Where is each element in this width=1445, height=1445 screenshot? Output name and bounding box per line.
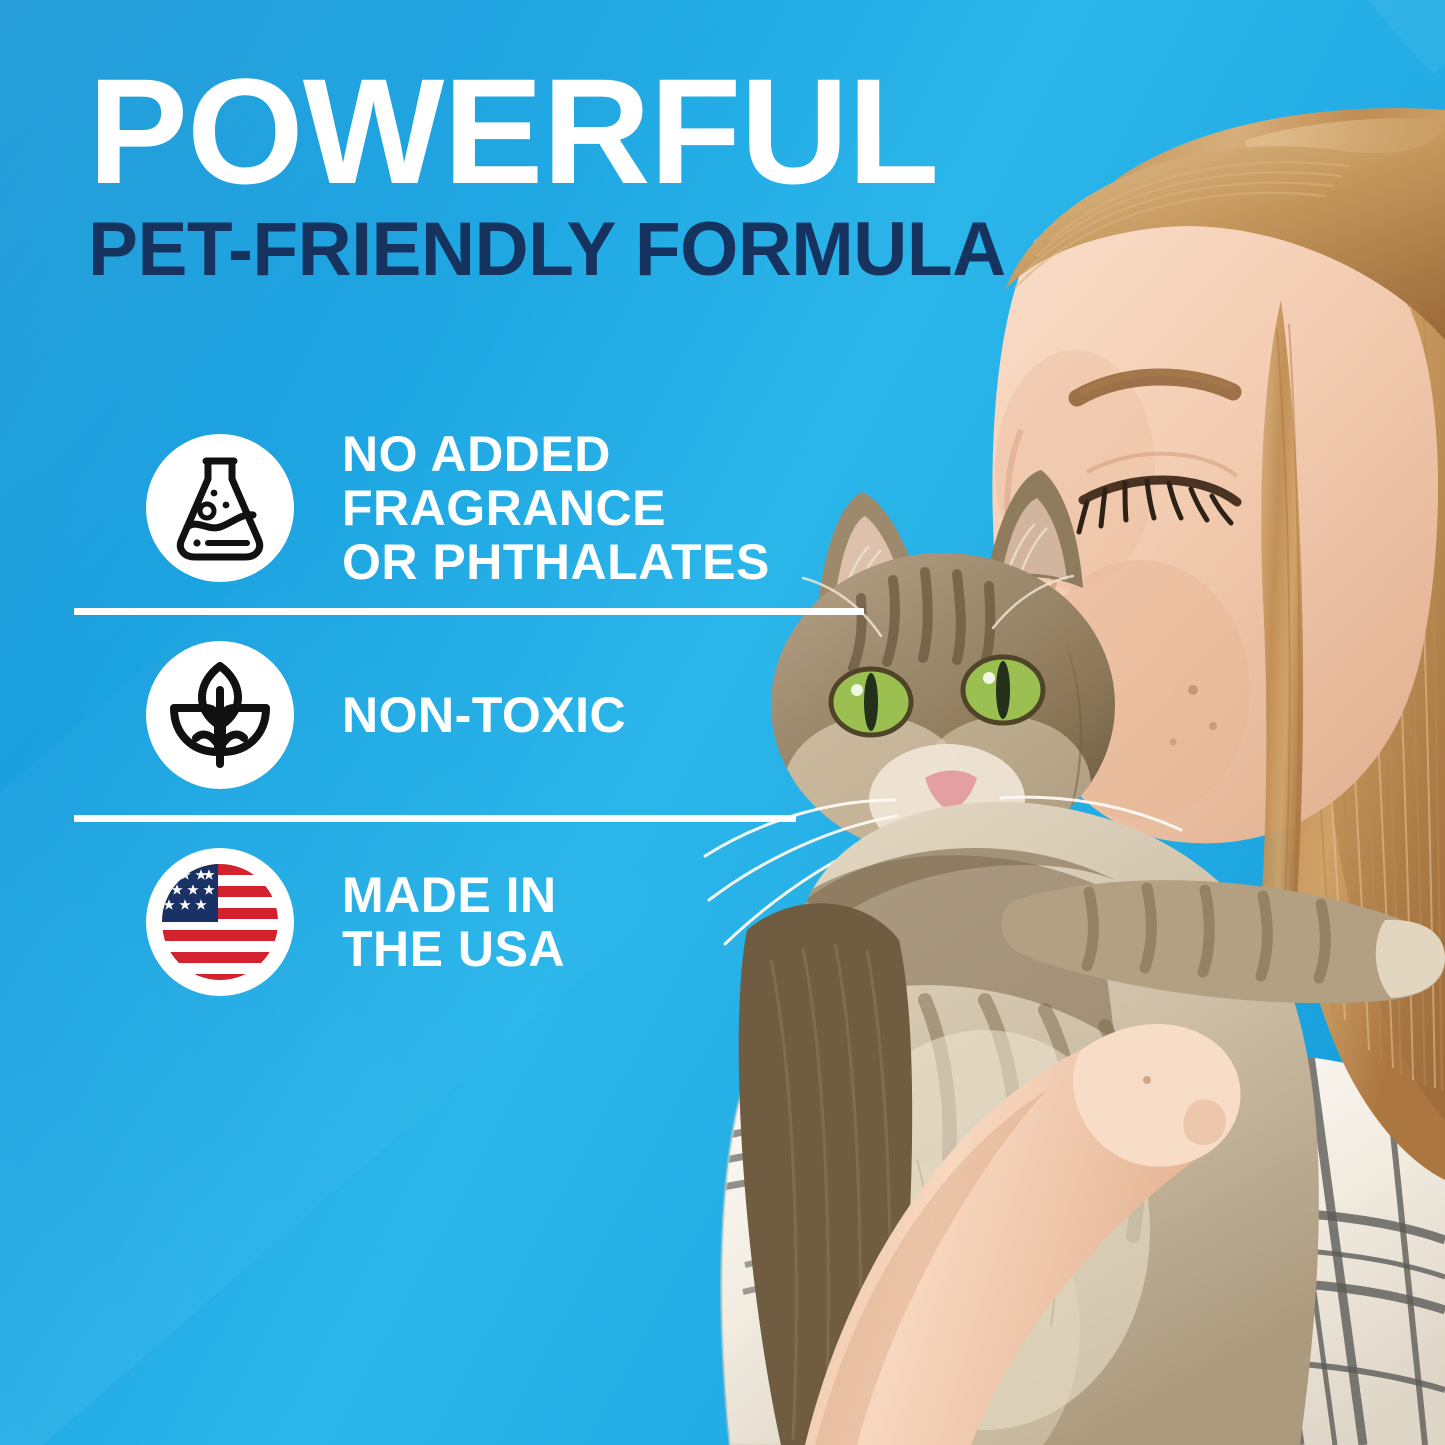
feature-list: NO ADDED FRAGRANCE OR PHTHALATES [0,408,900,1022]
page-title: POWERFUL [88,58,1020,205]
page-subtitle: PET-FRIENDLY FORMULA [88,212,1006,288]
promo-banner: POWERFUL PET-FRIENDLY FORMULA [0,0,1445,1445]
flask-icon [146,434,294,582]
feature-item-made-in-usa: MADE IN THE USA [0,822,900,1022]
feature-divider-1 [74,608,864,615]
feature-divider-2 [74,815,796,822]
leaf-plant-icon [146,641,294,789]
feature-item-no-added-fragrance: NO ADDED FRAGRANCE OR PHTHALATES [0,408,900,608]
feature-label: NON-TOXIC [342,688,626,742]
usa-flag-icon [146,848,294,996]
headline-block: POWERFUL PET-FRIENDLY FORMULA [88,58,1020,288]
feature-label: NO ADDED FRAGRANCE OR PHTHALATES [342,427,770,589]
feature-label: MADE IN THE USA [342,868,565,976]
feature-item-non-toxic: NON-TOXIC [0,615,900,815]
